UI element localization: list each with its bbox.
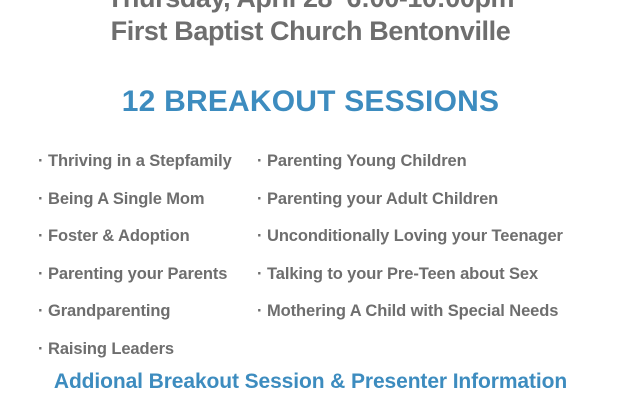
section-heading-breakout-sessions: 12 BREAKOUT SESSIONS [0, 84, 621, 120]
list-item: ·Raising Leaders [38, 331, 258, 369]
session-label: Parenting your Parents [48, 265, 227, 283]
list-item: ·Talking to your Pre-Teen about Sex [257, 256, 607, 294]
session-label: Raising Leaders [48, 340, 174, 358]
bullet-icon: · [38, 256, 48, 294]
event-venue: First Baptist Church Bentonville [0, 15, 621, 48]
bullet-icon: · [257, 181, 267, 219]
list-item: ·Parenting Young Children [257, 143, 607, 181]
bullet-icon: · [257, 143, 267, 181]
event-flyer: Thursday, April 28 6:00-10:00pm First Ba… [0, 0, 621, 400]
bullet-icon: · [38, 143, 48, 181]
bullet-icon: · [257, 293, 267, 331]
list-item: ·Grandparenting [38, 293, 258, 331]
list-item: ·Mothering A Child with Special Needs [257, 293, 607, 331]
footnote-additional-info: Addional Breakout Session & Presenter In… [0, 369, 621, 395]
list-item: ·Parenting your Adult Children [257, 181, 607, 219]
bullet-icon: · [38, 218, 48, 256]
session-label: Parenting your Adult Children [267, 190, 498, 208]
session-label: Foster & Adoption [48, 227, 190, 245]
bullet-icon: · [257, 218, 267, 256]
session-column-right: ·Parenting Young Children ·Parenting you… [257, 143, 607, 331]
session-column-left: ·Thriving in a Stepfamily ·Being A Singl… [38, 143, 258, 368]
session-label: Being A Single Mom [48, 190, 204, 208]
event-datetime: Thursday, April 28 6:00-10:00pm [0, 0, 621, 15]
session-label: Grandparenting [48, 302, 170, 320]
breakout-session-list: ·Thriving in a Stepfamily ·Being A Singl… [0, 143, 621, 358]
list-item: ·Unconditionally Loving your Teenager [257, 218, 607, 256]
bullet-icon: · [38, 181, 48, 219]
session-label: Thriving in a Stepfamily [48, 152, 232, 170]
bullet-icon: · [38, 331, 48, 369]
session-label: Talking to your Pre-Teen about Sex [267, 265, 538, 283]
list-item: ·Thriving in a Stepfamily [38, 143, 258, 181]
session-label: Parenting Young Children [267, 152, 467, 170]
list-item: ·Foster & Adoption [38, 218, 258, 256]
bullet-icon: · [257, 256, 267, 294]
bullet-icon: · [38, 293, 48, 331]
list-item: ·Being A Single Mom [38, 181, 258, 219]
event-header: Thursday, April 28 6:00-10:00pm First Ba… [0, 0, 621, 48]
session-label: Unconditionally Loving your Teenager [267, 227, 563, 245]
session-label: Mothering A Child with Special Needs [267, 302, 558, 320]
list-item: ·Parenting your Parents [38, 256, 258, 294]
